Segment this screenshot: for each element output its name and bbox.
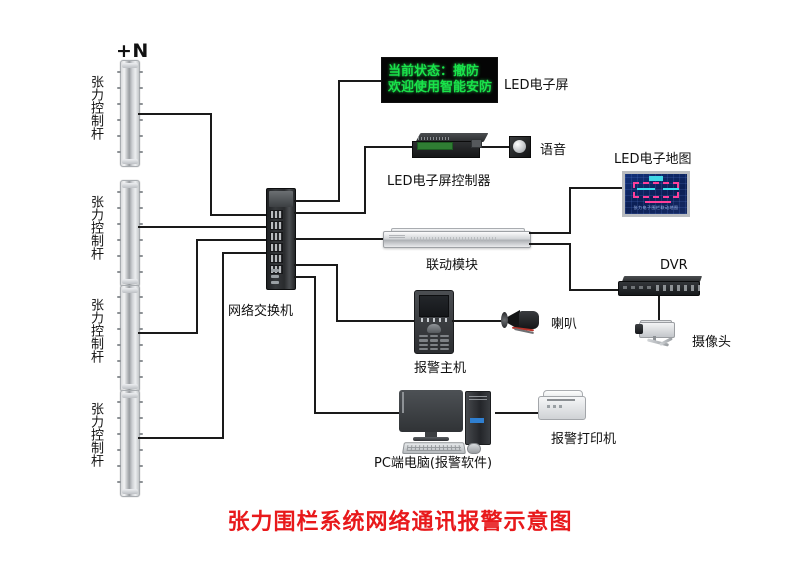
wire-switch-pc-h2 xyxy=(314,412,400,414)
power-label: +N xyxy=(116,40,149,62)
horn-mouth xyxy=(501,312,508,328)
switch-ports xyxy=(270,210,283,274)
wire-pc-printer xyxy=(495,412,541,414)
led-map-label: LED电子地图 xyxy=(614,148,691,167)
linkage-module-label: 联动模块 xyxy=(426,254,478,273)
led-screen-controller[interactable] xyxy=(412,133,486,159)
wire-linkage-ledmap-v xyxy=(569,188,571,234)
network-switch-label: 网络交换机 xyxy=(228,300,293,319)
horn-label: 喇叭 xyxy=(551,313,577,332)
controller-pins xyxy=(418,137,450,140)
map-perimeter-loop xyxy=(633,182,679,198)
linkage-vent xyxy=(411,237,497,241)
pole-cap-top xyxy=(122,393,138,398)
wire-pole4-h1 xyxy=(138,437,224,439)
horn-barrel xyxy=(519,311,539,329)
tension-pole-2-label: 张力控制杆 xyxy=(88,195,103,260)
tension-pole-1[interactable] xyxy=(120,60,140,167)
wire-pole3-h1 xyxy=(138,332,198,334)
pc-monitor[interactable] xyxy=(399,390,463,432)
wire-pole1-h1 xyxy=(138,113,212,115)
pole-cap-bottom xyxy=(122,489,138,494)
wire-linkage-out-bottom xyxy=(529,243,571,245)
voice-announcer[interactable] xyxy=(509,136,531,158)
wire-pole4-h2 xyxy=(222,252,268,254)
pc-tower[interactable] xyxy=(465,391,491,445)
cctv-camera[interactable] xyxy=(635,320,681,350)
pc-monitor-base xyxy=(413,437,449,441)
alarm-printer[interactable] xyxy=(538,390,584,420)
wire-switch-linkage-h xyxy=(294,238,384,240)
voice-speaker-icon xyxy=(513,140,526,153)
linkage-module[interactable] xyxy=(383,228,529,250)
tension-pole-2[interactable] xyxy=(120,180,140,287)
map-caption: 张力电子围栏联动地图 xyxy=(625,205,687,211)
led-screen-line1: 当前状态：撤防 xyxy=(388,64,491,80)
wire-switch-ledctrl-h1 xyxy=(294,212,366,214)
led-electronic-map[interactable]: 张力电子围栏联动地图 xyxy=(622,171,690,217)
operator-pc[interactable] xyxy=(399,390,495,452)
wire-switch-pc-h1 xyxy=(294,276,316,278)
wire-switch-alarm-h1 xyxy=(294,264,338,266)
wire-pole3-v xyxy=(196,240,198,334)
pole-cap-top xyxy=(122,63,138,68)
pole-cap-top xyxy=(122,183,138,188)
diagram-title: 张力围栏系统网络通讯报警示意图 xyxy=(0,504,800,536)
printer-control-panel xyxy=(547,405,563,408)
camera-body xyxy=(639,322,675,338)
wire-pole3-h2 xyxy=(196,239,268,241)
pc-label: PC端电脑(报警软件) xyxy=(374,452,492,471)
dvr-buttons xyxy=(656,285,700,291)
wire-pole1-h2 xyxy=(210,214,268,216)
map-zone-segment xyxy=(663,188,679,190)
alarm-host[interactable] xyxy=(414,290,454,354)
map-alarm-segment xyxy=(645,201,671,203)
wire-switch-pc-v xyxy=(314,276,316,413)
wire-pole2-h xyxy=(138,226,268,228)
dvr-recorder[interactable] xyxy=(618,276,704,298)
switch-head xyxy=(269,191,293,207)
tension-pole-4-label: 张力控制杆 xyxy=(88,402,103,467)
switch-status-leds xyxy=(271,269,282,284)
led-screen-line2: 欢迎使用智能安防 xyxy=(388,80,491,96)
pole-cap-top xyxy=(122,288,138,293)
wire-switch-alarm-v xyxy=(336,264,338,321)
linkage-marking xyxy=(389,234,405,238)
printer-paper-slot xyxy=(547,399,575,401)
voice-label: 语音 xyxy=(540,139,566,158)
led-controller-label: LED电子屏控制器 xyxy=(387,170,490,189)
wire-switch-ledscreen-h2 xyxy=(338,80,382,82)
camera-lens-icon xyxy=(635,324,643,334)
alarm-horn[interactable] xyxy=(502,307,546,333)
diagram-canvas: +N 张力控制杆 张力控制杆 张力控制杆 xyxy=(0,0,800,579)
tension-pole-3-label: 张力控制杆 xyxy=(88,298,103,363)
controller-terminal-block xyxy=(417,142,453,150)
pole-cap-bottom xyxy=(122,384,138,389)
wire-switch-ledscreen-v xyxy=(338,81,340,201)
alarm-host-label: 报警主机 xyxy=(414,357,466,376)
alarm-host-screen xyxy=(419,295,449,317)
map-header-tag xyxy=(649,176,663,181)
camera-label: 摄像头 xyxy=(692,331,731,350)
wire-switch-ledctrl-h2 xyxy=(364,146,414,148)
wire-pole1-v xyxy=(210,113,212,215)
wire-linkage-out-top xyxy=(529,232,571,234)
wire-linkage-ledmap-h xyxy=(569,187,623,189)
tension-pole-4[interactable] xyxy=(120,390,140,497)
map-zone-segment xyxy=(637,188,655,190)
pole-cap-bottom xyxy=(122,279,138,284)
led-display-screen[interactable]: 当前状态：撤防 欢迎使用智能安防 xyxy=(381,57,498,103)
wire-switch-alarm-h2 xyxy=(336,320,416,322)
wire-switch-ledscreen-h1 xyxy=(294,200,340,202)
wire-alarmhost-horn xyxy=(452,320,504,322)
printer-label: 报警打印机 xyxy=(551,428,616,447)
wire-switch-ledctrl-v xyxy=(364,147,366,213)
dvr-label: DVR xyxy=(660,258,688,273)
alarm-host-navpad[interactable] xyxy=(427,324,441,333)
controller-port xyxy=(471,139,482,148)
tension-pole-3[interactable] xyxy=(120,285,140,392)
wire-dvr-camera xyxy=(658,296,660,322)
wire-ledctrl-voice xyxy=(482,146,510,148)
wire-pole4-v xyxy=(222,253,224,438)
wire-linkage-dvr-h xyxy=(569,289,619,291)
alarm-host-indicators xyxy=(421,318,447,322)
led-display-label: LED电子屏 xyxy=(504,74,568,93)
tension-pole-1-label: 张力控制杆 xyxy=(88,75,103,140)
pole-cap-bottom xyxy=(122,159,138,164)
dvr-branding xyxy=(623,286,653,289)
network-switch[interactable] xyxy=(266,188,296,290)
wire-linkage-dvr-v xyxy=(569,243,571,291)
alarm-host-keypad[interactable] xyxy=(419,335,449,350)
